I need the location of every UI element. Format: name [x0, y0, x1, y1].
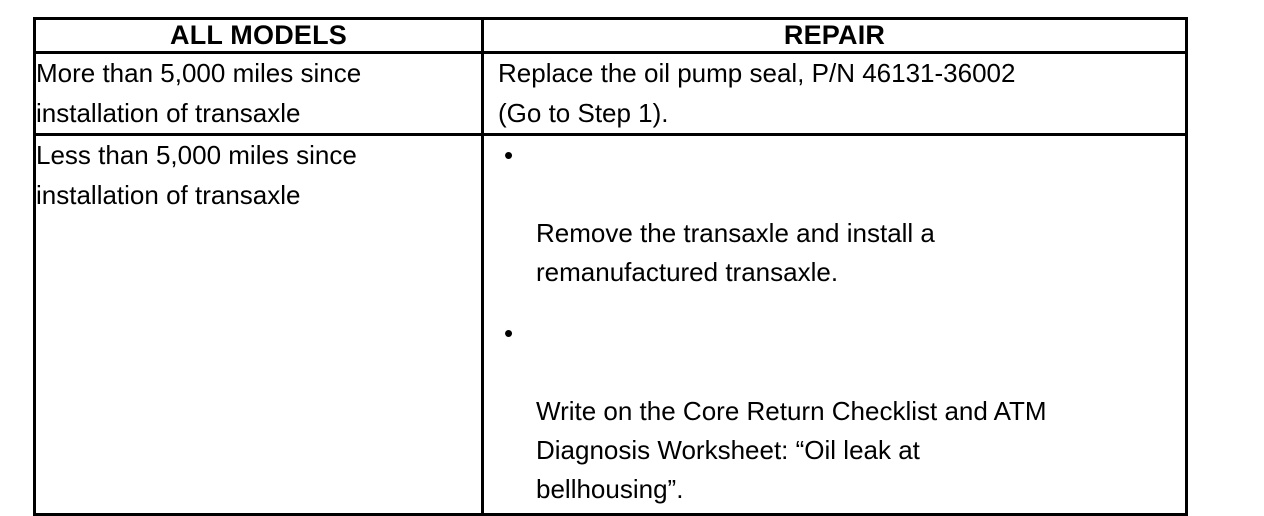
repair-text: Replace the oil pump seal, P/N 46131-360…	[498, 54, 1175, 133]
column-header-repair: REPAIR	[483, 19, 1187, 53]
list-item: • Remove the transaxle and install a rem…	[498, 136, 1175, 292]
repair-cell-replace-seal: Replace the oil pump seal, P/N 46131-360…	[483, 53, 1187, 135]
list-item: • Write on the Core Return Checklist and…	[498, 314, 1175, 509]
repair-decision-table: ALL MODELS REPAIR More than 5,000 miles …	[33, 17, 1188, 516]
condition-cell-more-than-5000: More than 5,000 miles since installation…	[35, 53, 483, 135]
column-header-all-models: ALL MODELS	[35, 19, 483, 53]
table-row: More than 5,000 miles since installation…	[35, 53, 1187, 135]
document-page: ALL MODELS REPAIR More than 5,000 miles …	[0, 0, 1264, 456]
condition-text: Less than 5,000 miles since installation…	[36, 136, 481, 215]
repair-bullet-list: • Remove the transaxle and install a rem…	[498, 136, 1175, 509]
condition-text: More than 5,000 miles since installation…	[36, 54, 481, 133]
condition-cell-less-than-5000: Less than 5,000 miles since installation…	[35, 135, 483, 515]
table-row: Less than 5,000 miles since installation…	[35, 135, 1187, 515]
list-item-text: Remove the transaxle and install a reman…	[536, 218, 935, 287]
list-item-text: Write on the Core Return Checklist and A…	[536, 396, 1047, 504]
table-header-row: ALL MODELS REPAIR	[35, 19, 1187, 53]
bullet-icon: •	[504, 136, 513, 175]
repair-cell-replace-transaxle: • Remove the transaxle and install a rem…	[483, 135, 1187, 515]
bullet-icon: •	[504, 314, 513, 353]
